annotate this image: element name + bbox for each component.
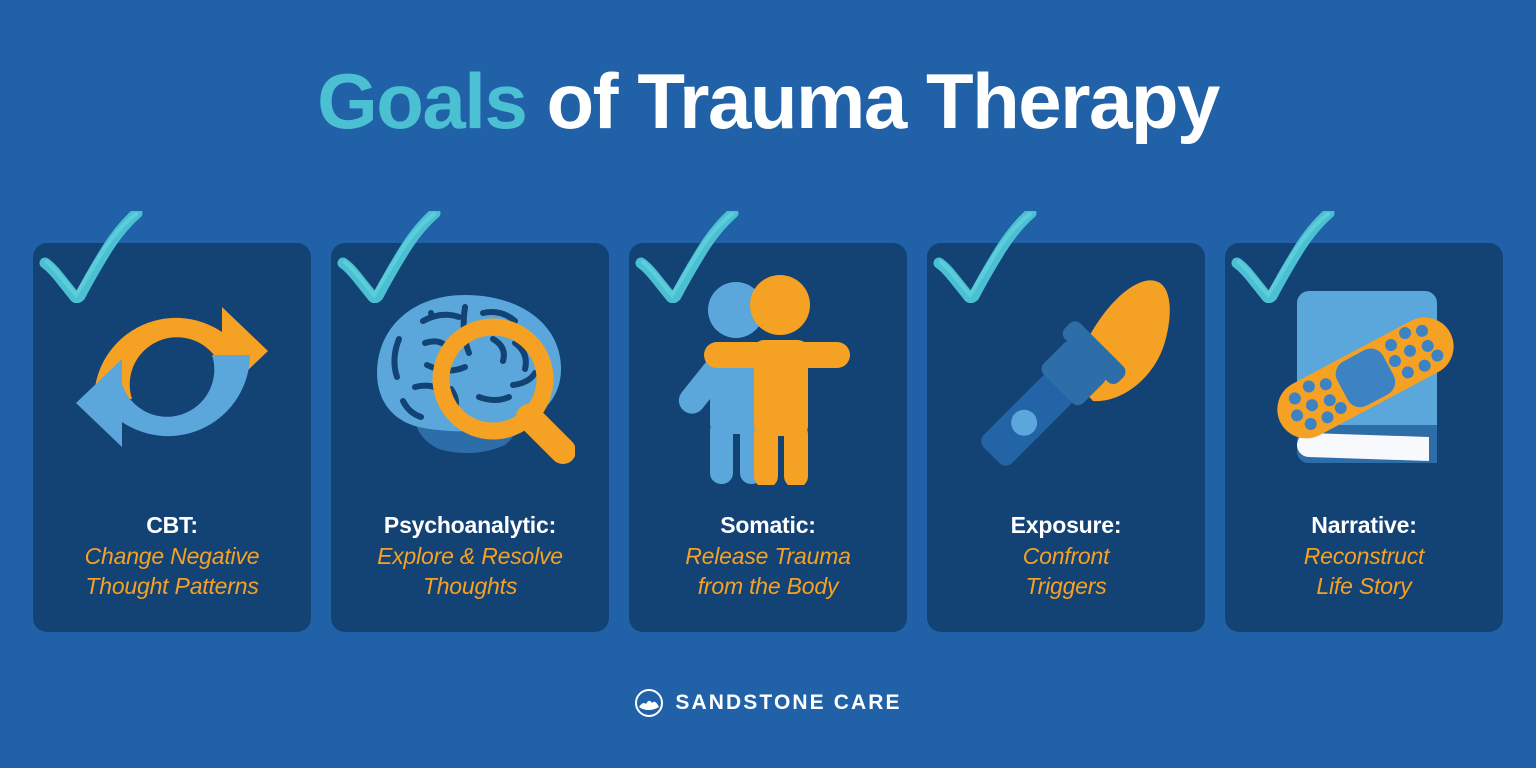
brand-name: SANDSTONE CARE bbox=[675, 691, 901, 715]
card-title: CBT: bbox=[41, 511, 303, 540]
title-rest: of Trauma Therapy bbox=[526, 57, 1219, 145]
mountain-circle-logo-icon bbox=[634, 688, 664, 718]
goal-card-somatic[interactable]: Somatic: Release Trauma from the Body bbox=[629, 243, 907, 632]
footer-branding: SANDSTONE CARE bbox=[0, 688, 1536, 718]
card-description: Release Trauma from the Body bbox=[637, 542, 899, 601]
title-accent-word: Goals bbox=[317, 57, 526, 145]
goal-card-narrative[interactable]: Narrative: Reconstruct Life Story bbox=[1225, 243, 1503, 632]
card-title: Narrative: bbox=[1233, 511, 1495, 540]
book-bandage-icon bbox=[1225, 243, 1503, 511]
card-description: Explore & Resolve Thoughts bbox=[339, 542, 601, 601]
two-people-embrace-icon bbox=[629, 243, 907, 511]
goal-card-exposure[interactable]: Exposure: Confront Triggers bbox=[927, 243, 1205, 632]
card-description: Change Negative Thought Patterns bbox=[41, 542, 303, 601]
card-title: Exposure: bbox=[935, 511, 1197, 540]
goal-card-cbt[interactable]: CBT: Change Negative Thought Patterns bbox=[33, 243, 311, 632]
card-description: Reconstruct Life Story bbox=[1233, 542, 1495, 601]
card-title: Somatic: bbox=[637, 511, 899, 540]
flashlight-beam-icon bbox=[927, 243, 1205, 511]
brain-magnifier-icon bbox=[331, 243, 609, 511]
goal-card-psychoanalytic[interactable]: Psychoanalytic: Explore & Resolve Though… bbox=[331, 243, 609, 632]
page-title: Goals of Trauma Therapy bbox=[0, 62, 1536, 140]
card-title: Psychoanalytic: bbox=[339, 511, 601, 540]
refresh-cycle-arrows-icon bbox=[33, 243, 311, 511]
goal-cards-row: CBT: Change Negative Thought Patterns bbox=[33, 243, 1503, 632]
card-description: Confront Triggers bbox=[935, 542, 1197, 601]
